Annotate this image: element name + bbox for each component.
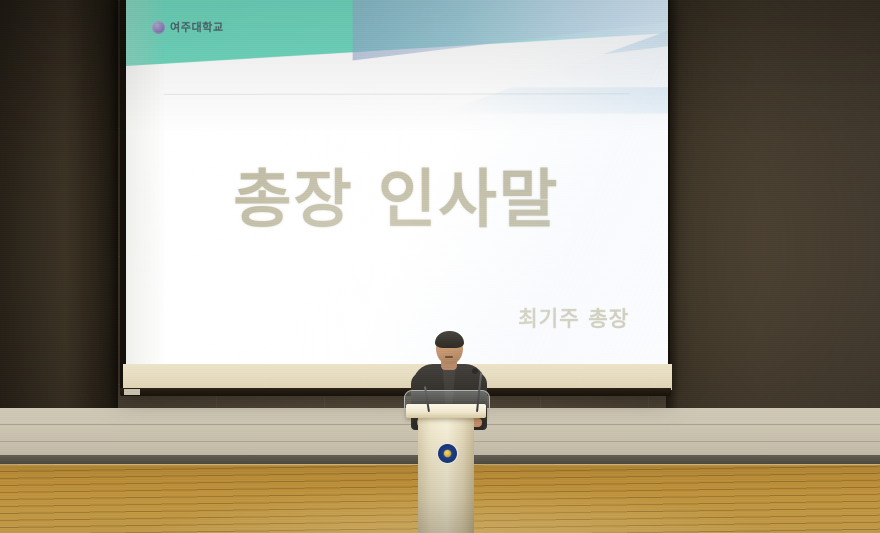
podium-shading [418,415,474,533]
university-crest-icon [438,444,457,463]
auditorium-photo: 여주대학교 총장 인사말 최기주 총장 [0,0,880,533]
slide-title: 총장 인사말 [126,168,668,231]
projection-screen-surface: 여주대학교 총장 인사말 최기주 총장 [126,0,668,379]
screen-bottom-rail [120,388,671,396]
presenter-hair [435,331,464,348]
university-seal-icon [152,20,165,33]
slide-brand-lockup: 여주대학교 [152,19,224,35]
screen-rail-end-cap [124,389,140,395]
screen-lower-roll-band [123,364,672,390]
podium-reading-surface [406,404,486,418]
presenter-right-eye [453,345,458,347]
microphone-capsule-icon [472,368,478,374]
presentation-slide: 여주대학교 총장 인사말 최기주 총장 [126,0,668,379]
slide-subtitle-presenter: 최기주 총장 [518,303,629,333]
presenter-mouth [445,356,453,358]
presenter-left-eye [441,345,446,347]
university-name-label: 여주대학교 [170,19,224,35]
